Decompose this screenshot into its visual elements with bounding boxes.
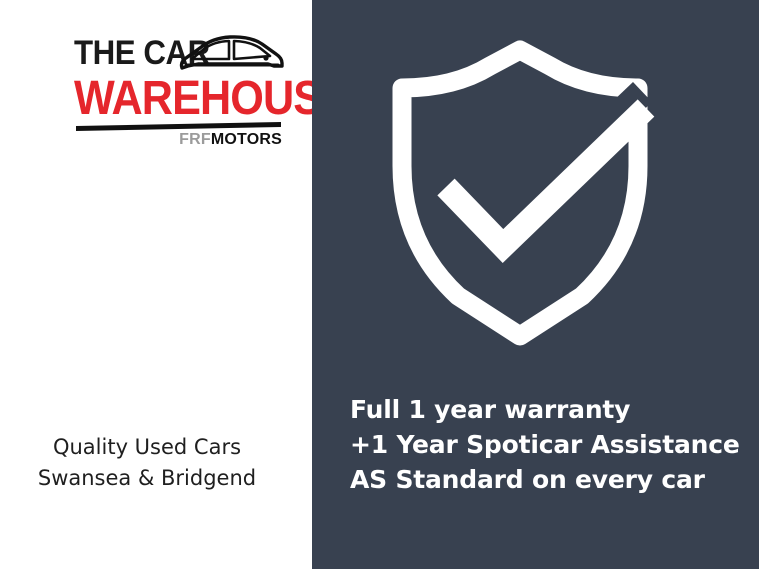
car-silhouette-icon (178, 32, 284, 76)
tagline-line-2: Swansea & Bridgend (0, 463, 294, 494)
headline: Full 1 year warranty +1 Year Spoticar As… (350, 392, 750, 497)
right-panel: Full 1 year warranty +1 Year Spoticar As… (312, 0, 759, 569)
logo-subbrand-motors: MOTORS (211, 131, 282, 148)
tagline-line-1: Quality Used Cars (0, 432, 294, 463)
logo-top-row: THE CAR (74, 34, 282, 76)
logo-subbrand: FRFMOTORS (179, 131, 282, 149)
headline-line-3: AS Standard on every car (350, 462, 750, 497)
shield-check-icon (390, 48, 650, 340)
tagline: Quality Used Cars Swansea & Bridgend (0, 432, 294, 494)
logo-subbrand-frf: FRF (179, 131, 211, 148)
warranty-banner: THE CAR WAREHOUSE FRFMOTORS Qua (0, 0, 759, 569)
headline-line-1: Full 1 year warranty (350, 392, 750, 427)
headline-line-2: +1 Year Spoticar Assistance (350, 427, 750, 462)
left-panel: THE CAR WAREHOUSE FRFMOTORS Qua (0, 0, 312, 569)
company-logo: THE CAR WAREHOUSE FRFMOTORS (74, 34, 282, 152)
logo-text-warehouse: WAREHOUSE (74, 74, 349, 124)
